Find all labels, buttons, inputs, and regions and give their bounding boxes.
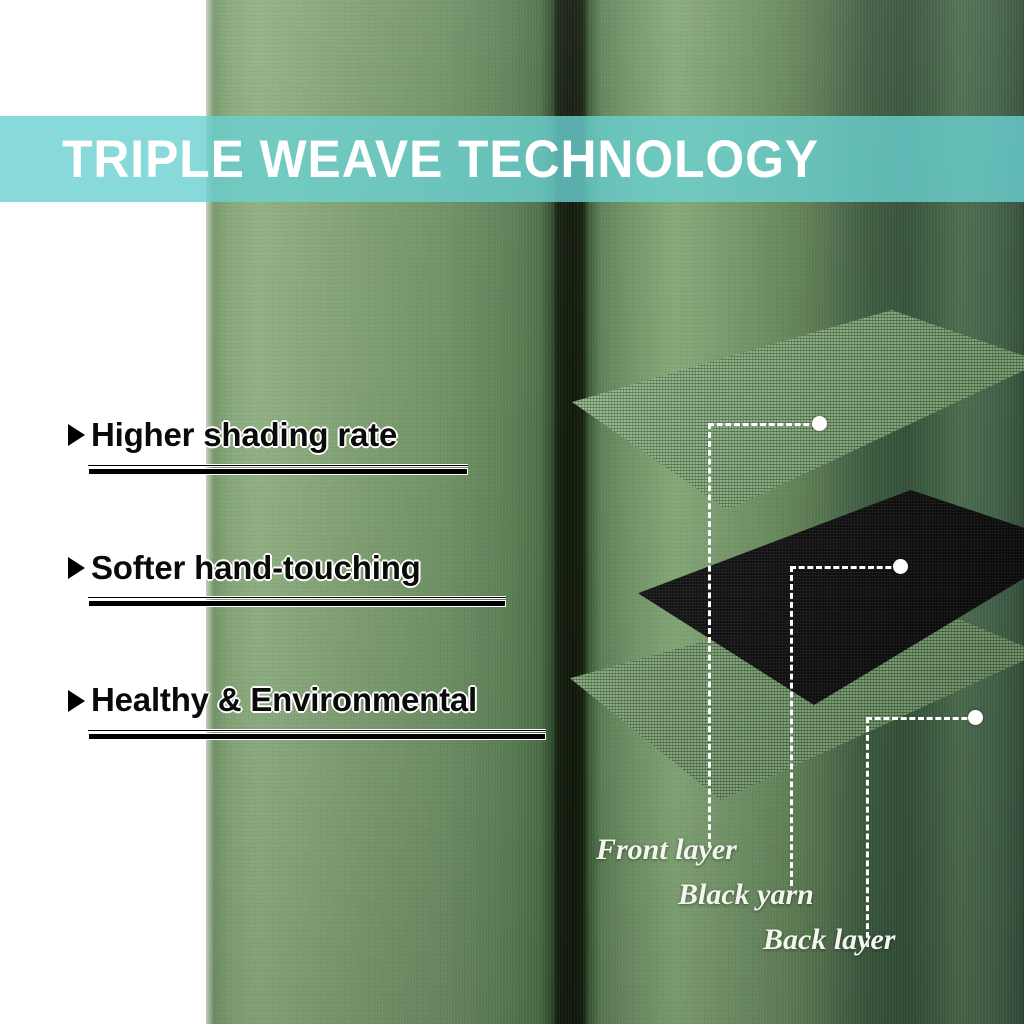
product-feature-image: TRIPLE WEAVE TECHNOLOGY Higher shading r… <box>0 0 1024 1024</box>
underline-thin-rule <box>88 596 506 599</box>
feature-item-healthy-environmental: Healthy & Environmental <box>0 683 620 740</box>
callout-leader-v-back-layer <box>866 717 869 947</box>
callout-leader-h-back-layer <box>866 717 976 720</box>
callout-leader-h-black-yarn <box>790 566 900 569</box>
front-layer-shading <box>572 310 1024 510</box>
feature-label: Healthy & Environmental <box>91 683 477 718</box>
underline-thick-rule <box>88 733 546 740</box>
layer-label-black-yarn: Black yarn <box>678 878 814 912</box>
page-title: TRIPLE WEAVE TECHNOLOGY <box>62 133 819 186</box>
feature-underline <box>88 464 468 475</box>
layer-label-back-layer: Back layer <box>763 923 895 957</box>
underline-thin-rule <box>88 464 468 467</box>
triangle-right-icon <box>68 557 85 579</box>
callout-leader-v-front-layer <box>708 423 711 848</box>
underline-thick-rule <box>88 600 506 607</box>
layer-label-front-layer: Front layer <box>596 833 737 867</box>
underline-thick-rule <box>88 468 468 475</box>
diagram-layer-front-layer <box>572 310 1024 510</box>
feature-item-softer-hand-touching: Softer hand-touching <box>0 551 620 608</box>
feature-underline <box>88 596 506 607</box>
feature-item-higher-shading-rate: Higher shading rate <box>0 418 620 475</box>
fabric-layer-diagram <box>590 300 1024 860</box>
feature-label: Higher shading rate <box>91 418 397 453</box>
triangle-right-icon <box>68 690 85 712</box>
underline-thin-rule <box>88 729 546 732</box>
title-banner: TRIPLE WEAVE TECHNOLOGY <box>0 116 1024 202</box>
callout-leader-v-black-yarn <box>790 566 793 886</box>
feature-underline <box>88 729 546 740</box>
feature-list: Higher shading rate Softer hand-touching… <box>0 418 620 740</box>
callout-leader-h-front-layer <box>708 423 818 426</box>
triangle-right-icon <box>68 424 85 446</box>
feature-label: Softer hand-touching <box>91 551 421 586</box>
